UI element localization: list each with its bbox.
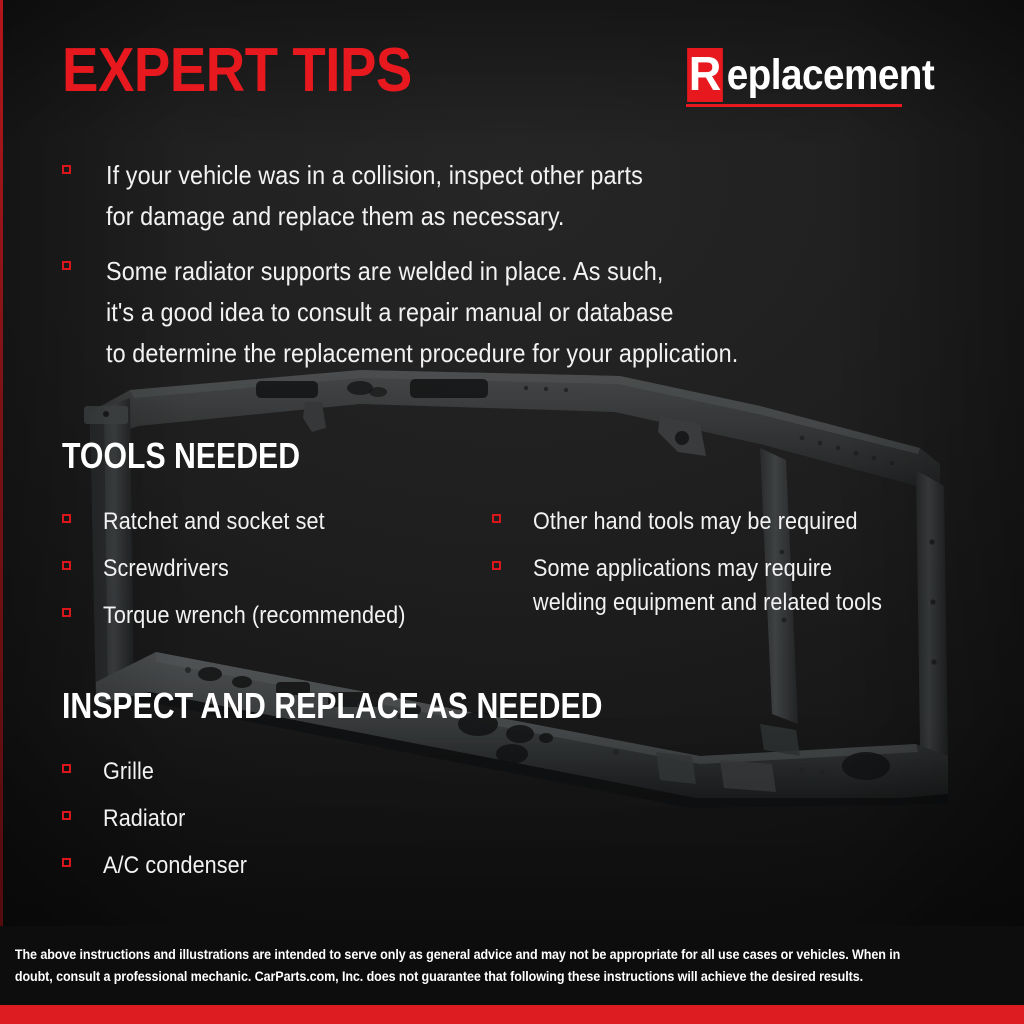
list-item-label: Other hand tools may be required: [533, 505, 858, 539]
list-item-label: Grille: [103, 755, 154, 789]
square-bullet-icon: [492, 561, 501, 570]
square-bullet-icon: [62, 811, 71, 820]
intro-tips-list: If your vehicle was in a collision, insp…: [62, 155, 809, 388]
inspect-and-replace-heading: INSPECT AND REPLACE AS NEEDED: [62, 688, 602, 724]
square-bullet-icon: [62, 561, 71, 570]
list-item-label: Screwdrivers: [103, 552, 229, 586]
logo-row: R eplacement: [686, 48, 958, 102]
list-item-label: Some applications may require welding eq…: [533, 552, 882, 620]
square-bullet-icon: [62, 764, 71, 773]
tools-left-column: Ratchet and socket set Screwdrivers Torq…: [62, 505, 482, 646]
square-bullet-icon: [62, 165, 71, 174]
list-item: Some applications may require welding eq…: [492, 552, 982, 620]
list-item: A/C condenser: [62, 849, 263, 883]
square-bullet-icon: [62, 608, 71, 617]
inspect-and-replace-list: Grille Radiator A/C condenser: [62, 755, 263, 896]
list-item-label: Some radiator supports are welded in pla…: [106, 251, 738, 374]
list-item: Screwdrivers: [62, 552, 482, 586]
list-item: Ratchet and socket set: [62, 505, 482, 539]
tools-needed-heading: TOOLS NEEDED: [62, 438, 300, 474]
square-bullet-icon: [62, 514, 71, 523]
list-item-label: A/C condenser: [103, 849, 247, 883]
footer-accent-bar: [0, 1005, 1024, 1024]
page-title: EXPERT TIPS: [62, 40, 412, 102]
list-item: Radiator: [62, 802, 263, 836]
square-bullet-icon: [492, 514, 501, 523]
logo-underline: [686, 104, 902, 107]
logo-wordmark: eplacement: [724, 48, 934, 102]
list-item-label: Ratchet and socket set: [103, 505, 325, 539]
list-item: If your vehicle was in a collision, insp…: [62, 155, 809, 237]
header: EXPERT TIPS R eplacement: [0, 0, 1024, 130]
list-item: Other hand tools may be required: [492, 505, 982, 539]
footer-disclaimer-band: The above instructions and illustrations…: [0, 926, 1024, 1005]
list-item: Torque wrench (recommended): [62, 599, 482, 633]
square-bullet-icon: [62, 261, 71, 270]
list-item-label: Torque wrench (recommended): [103, 599, 406, 633]
left-accent-strip: [0, 0, 3, 1005]
list-item-label: Radiator: [103, 802, 185, 836]
expert-tips-infographic: EXPERT TIPS R eplacement If your vehicle…: [0, 0, 1024, 1024]
list-item: Grille: [62, 755, 263, 789]
footer-disclaimer-text: The above instructions and illustrations…: [0, 944, 952, 988]
square-bullet-icon: [62, 858, 71, 867]
tools-right-column: Other hand tools may be required Some ap…: [492, 505, 982, 633]
logo-mark-letter: R: [688, 48, 724, 102]
list-item: Some radiator supports are welded in pla…: [62, 251, 809, 374]
brand-logo: R eplacement: [686, 48, 958, 107]
list-item-label: If your vehicle was in a collision, insp…: [106, 155, 643, 237]
